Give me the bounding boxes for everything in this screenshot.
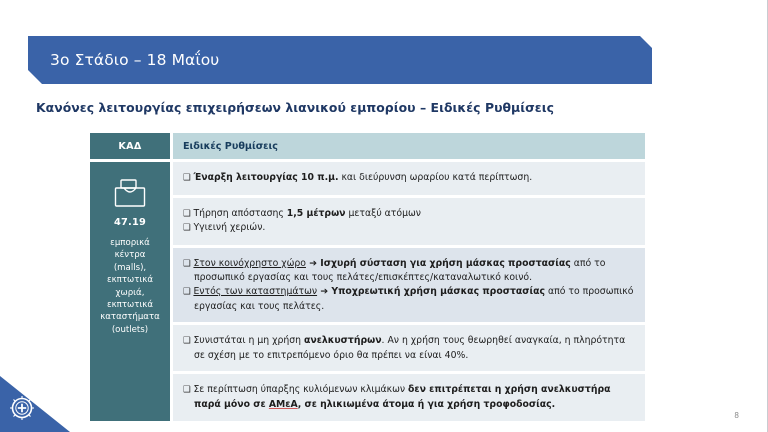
checkbox-icon: ❑: [183, 173, 193, 183]
checkbox-icon: ❑: [183, 336, 193, 346]
greek-republic-emblem-icon: [0, 370, 92, 432]
table-body: 47.19 εμπορικάκέντρα(malls),εκπτωτικάχωρ…: [90, 162, 645, 421]
rule-text: Συνιστάται η μη χρήση: [193, 335, 304, 346]
rule-text: Εντός των καταστημάτων: [193, 286, 317, 297]
rule-text: Υγιεινή χεριών.: [193, 222, 265, 233]
rule-bullet: ❑ Έναρξη λειτουργίας 10 π.μ. και διεύρυν…: [183, 171, 637, 186]
slide: 3ο Στάδιο – 18 Μαΐου Κανόνες λειτουργίας…: [0, 0, 768, 432]
kad-description-line: (malls),: [100, 262, 160, 274]
rule-text: μεταξύ ατόμων: [346, 208, 421, 219]
table-row: ❑ Τήρηση απόστασης 1,5 μέτρων μεταξύ ατό…: [173, 198, 645, 245]
checkbox-icon: ❑: [183, 223, 193, 233]
table-row: ❑ Στον κοινόχρηστο χώρο ➔ Ισχυρή σύσταση…: [173, 248, 645, 322]
rule-text: Έναρξη λειτουργίας 10 π.μ.: [193, 172, 338, 183]
rule-text: ανελκυστήρων: [304, 335, 382, 346]
rule-bullet: ❑ Στον κοινόχρηστο χώρο ➔ Ισχυρή σύσταση…: [183, 257, 637, 285]
page-title: 3ο Στάδιο – 18 Μαΐου: [28, 51, 219, 69]
table-row: ❑ Έναρξη λειτουργίας 10 π.μ. και διεύρυν…: [173, 162, 645, 195]
rules-column: ❑ Έναρξη λειτουργίας 10 π.μ. και διεύρυν…: [173, 162, 645, 421]
kad-description-line: κέντρα: [100, 249, 160, 261]
rule-text: ➔: [317, 286, 331, 297]
table-header-kad-label: ΚΑΔ: [118, 141, 141, 152]
page-number: 8: [734, 411, 739, 420]
shopping-bag-icon: [113, 178, 147, 208]
rule-text: , σε ηλικιωμένα άτομα ή για χρήση τροφοδ…: [298, 399, 556, 410]
rule-text: Ισχυρή σύσταση για χρήση μάσκας προστασί…: [320, 258, 571, 269]
rule-text: Τήρηση απόστασης: [193, 208, 286, 219]
kad-description-line: εκπτωτικά: [100, 274, 160, 286]
rule-bullet: ❑ Υγιεινή χεριών.: [183, 221, 637, 236]
rule-text: Στον κοινόχρηστο χώρο: [193, 258, 306, 269]
table-header-rules: Ειδικές Ρυθμίσεις: [173, 133, 645, 159]
checkbox-icon: ❑: [183, 259, 193, 269]
subtitle: Κανόνες λειτουργίας επιχειρήσεων λιανικο…: [36, 100, 554, 115]
table-header-row: ΚΑΔ Ειδικές Ρυθμίσεις: [90, 133, 645, 159]
checkbox-icon: ❑: [183, 385, 193, 395]
checkbox-icon: ❑: [183, 287, 193, 297]
title-banner: 3ο Στάδιο – 18 Μαΐου: [28, 36, 652, 84]
rule-bullet: ❑ Σε περίπτωση ύπαρξης κυλιόμενων κλιμάκ…: [183, 383, 637, 411]
rule-text: ➔: [306, 258, 320, 269]
table-row: ❑ Σε περίπτωση ύπαρξης κυλιόμενων κλιμάκ…: [173, 374, 645, 420]
rule-text: 1,5 μέτρων: [287, 208, 346, 219]
rule-text: Σε περίπτωση ύπαρξης κυλιόμενων κλιμάκων: [193, 384, 408, 395]
rules-table: ΚΑΔ Ειδικές Ρυθμίσεις 47.19 εμπορικάκέντ…: [90, 133, 645, 421]
kad-cell: 47.19 εμπορικάκέντρα(malls),εκπτωτικάχωρ…: [90, 162, 170, 421]
kad-description-line: εμπορικά: [100, 237, 160, 249]
rule-bullet: ❑ Τήρηση απόστασης 1,5 μέτρων μεταξύ ατό…: [183, 207, 637, 222]
table-header-rules-label: Ειδικές Ρυθμίσεις: [173, 141, 278, 152]
kad-code: 47.19: [114, 217, 146, 228]
kad-description-line: καταστήματα: [100, 311, 160, 323]
table-row: ❑ Συνιστάται η μη χρήση ανελκυστήρων. Αν…: [173, 325, 645, 371]
rule-text: Υποχρεωτική χρήση μάσκας προστασίας: [331, 286, 545, 297]
kad-description-line: εκπτωτικά: [100, 299, 160, 311]
rule-text: ΑΜεΑ: [269, 399, 298, 410]
rule-text: και διεύρυνση ωραρίου κατά περίπτωση.: [338, 172, 532, 183]
kad-description-line: χωριά,: [100, 287, 160, 299]
checkbox-icon: ❑: [183, 209, 193, 219]
kad-description: εμπορικάκέντρα(malls),εκπτωτικάχωριά,εκπ…: [96, 237, 164, 336]
kad-description-line: (outlets): [100, 324, 160, 336]
table-header-kad: ΚΑΔ: [90, 133, 170, 159]
rule-bullet: ❑ Εντός των καταστημάτων ➔ Υποχρεωτική χ…: [183, 285, 637, 313]
rule-bullet: ❑ Συνιστάται η μη χρήση ανελκυστήρων. Αν…: [183, 334, 637, 362]
